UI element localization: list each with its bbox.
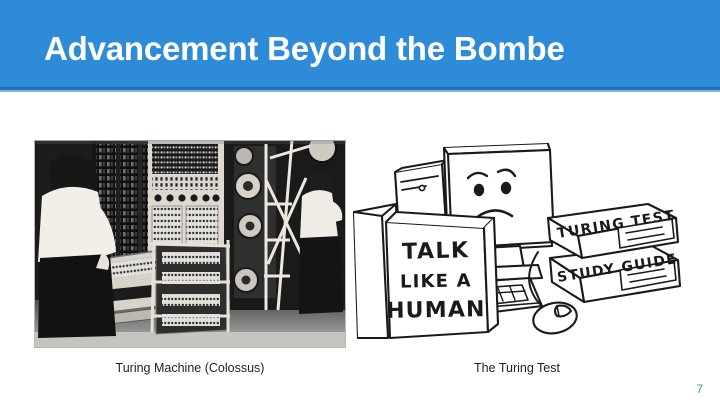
colossus-photo xyxy=(34,140,346,348)
caption-turing-test: The Turing Test xyxy=(352,361,682,375)
turing-test-illustration: TALK LIKE A HUMAN xyxy=(352,142,682,348)
title-banner-accent-rule xyxy=(0,90,720,92)
slide-canvas: Advancement Beyond the Bombe xyxy=(0,0,720,405)
colossus-photo-svg xyxy=(34,140,346,348)
turing-test-illustration-svg: TALK LIKE A HUMAN xyxy=(352,142,682,348)
page-title: Advancement Beyond the Bombe xyxy=(44,30,565,68)
book-front-line-1: TALK xyxy=(402,238,470,265)
book-front-line-2: LIKE A xyxy=(400,270,472,292)
book-front-line-3: HUMAN xyxy=(386,297,486,324)
caption-colossus: Turing Machine (Colossus) xyxy=(34,361,346,375)
page-number: 7 xyxy=(696,382,703,396)
